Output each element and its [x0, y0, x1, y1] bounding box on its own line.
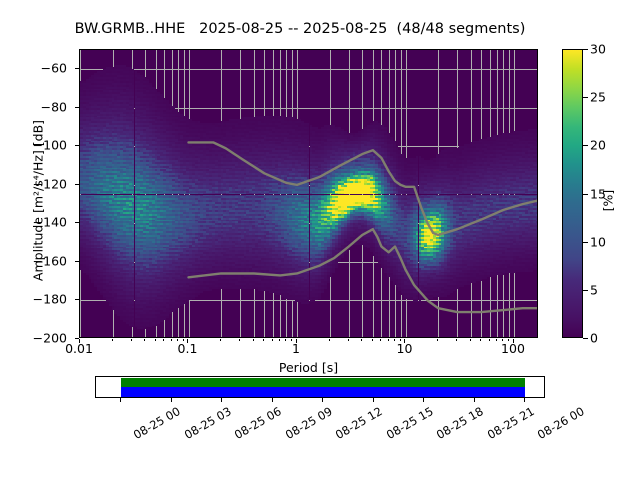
ppsd-axes[interactable] — [79, 49, 538, 338]
plot-title: BW.GRMB..HHE 2025-08-25 -- 2025-08-25 (4… — [0, 21, 600, 37]
ppsd-figure: BW.GRMB..HHE 2025-08-25 -- 2025-08-25 (4… — [0, 0, 640, 480]
